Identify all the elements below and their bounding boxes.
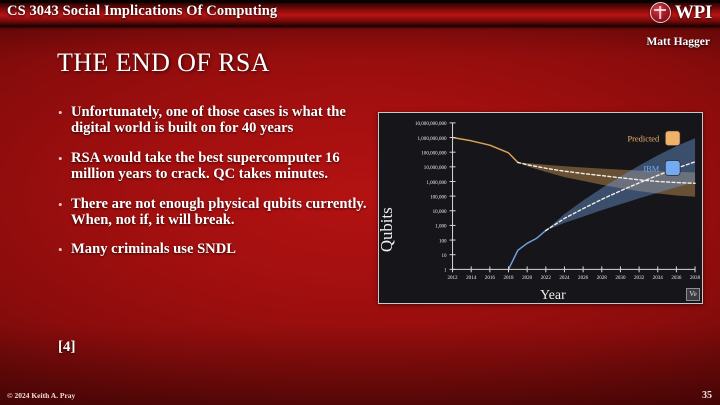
legend-label-ibm: IBM [643, 163, 659, 173]
list-item: • Unfortunately, one of those cases is w… [58, 104, 370, 137]
bullet-marker-icon: • [58, 241, 71, 258]
chart-x-tick-label: 2028 [597, 275, 608, 281]
chart-y-tick-label: 1,000,000,000 [417, 136, 447, 142]
page-title: THE END OF RSA [57, 48, 270, 78]
list-item-text: RSA would take the best supercomputer 16… [71, 150, 370, 183]
chart-x-tick-label: 2026 [578, 275, 589, 281]
chart-y-tick-label: 100,000 [430, 194, 447, 200]
chart-y-tick-label: 1,000 [435, 224, 447, 230]
bullet-marker-icon: • [58, 104, 71, 121]
chart-x-tick-label: 2032 [634, 275, 645, 281]
legend-label-predicted: Predicted [627, 134, 660, 144]
chart-y-axis-label: Qubits [379, 207, 396, 252]
bullet-marker-icon: • [58, 150, 71, 167]
chart-y-tick-label: 1,000,000 [426, 180, 447, 186]
chart-x-axis-label: Year [540, 288, 566, 303]
list-item-text: There are not enough physical qubits cur… [71, 196, 370, 229]
page-number: 35 [702, 390, 712, 401]
slide-header-bar: CS 3043 Social Implications Of Computing [0, 0, 720, 27]
chart-x-tick-label: 2012 [447, 275, 458, 281]
author-name: Matt Hagger [646, 36, 710, 48]
chart-x-tick-label: 2036 [671, 275, 682, 281]
chart-x-tick-label: 2038 [690, 275, 701, 281]
list-item: • RSA would take the best supercomputer … [58, 150, 370, 183]
chart-x-tick-label: 2016 [485, 275, 496, 281]
list-item-text: Many criminals use SNDL [71, 241, 236, 257]
chart-y-tick-label: 10,000,000 [424, 165, 447, 171]
course-title: CS 3043 Social Implications Of Computing [7, 3, 277, 20]
chart-x-tick-label: 2018 [503, 275, 514, 281]
chart-x-tick-label: 2030 [615, 275, 626, 281]
chart-x-tick-label: 2014 [466, 275, 477, 281]
legend-swatch-ibm [665, 161, 680, 176]
copyright-notice: © 2024 Keith A. Pray [7, 391, 75, 400]
chart-y-tick-label: 10 [442, 253, 448, 259]
chart-y-tick-label: 10,000 [433, 209, 447, 215]
wpi-seal-icon [650, 2, 671, 23]
citation-reference: [4] [58, 339, 76, 356]
qubits-forecast-chart: 1101001,00010,000100,0001,000,00010,000,… [378, 112, 703, 304]
list-item: • There are not enough physical qubits c… [58, 196, 370, 229]
chart-x-tick-label: 2024 [559, 275, 570, 281]
bullet-marker-icon: • [58, 196, 71, 213]
chart-y-tick-label: 10,000,000,000 [415, 121, 447, 127]
slide-canvas: CS 3043 Social Implications Of Computing… [0, 0, 720, 405]
wpi-logo-text: WPI [675, 3, 712, 22]
list-item-text: Unfortunately, one of those cases is wha… [71, 104, 370, 137]
chart-watermark: Ve [686, 288, 700, 301]
chart-x-tick-label: 2022 [541, 275, 552, 281]
bullet-list: • Unfortunately, one of those cases is w… [58, 104, 370, 271]
chart-y-tick-label: 100,000,000 [421, 150, 447, 156]
chart-svg: 1101001,00010,000100,0001,000,00010,000,… [379, 113, 702, 303]
chart-x-tick-label: 2020 [522, 275, 533, 281]
list-item: • Many criminals use SNDL [58, 241, 370, 258]
wpi-logo: WPI [650, 2, 712, 23]
legend-swatch-predicted [665, 131, 680, 146]
chart-x-tick-label: 2034 [653, 275, 664, 281]
chart-y-tick-label: 100 [439, 238, 447, 244]
